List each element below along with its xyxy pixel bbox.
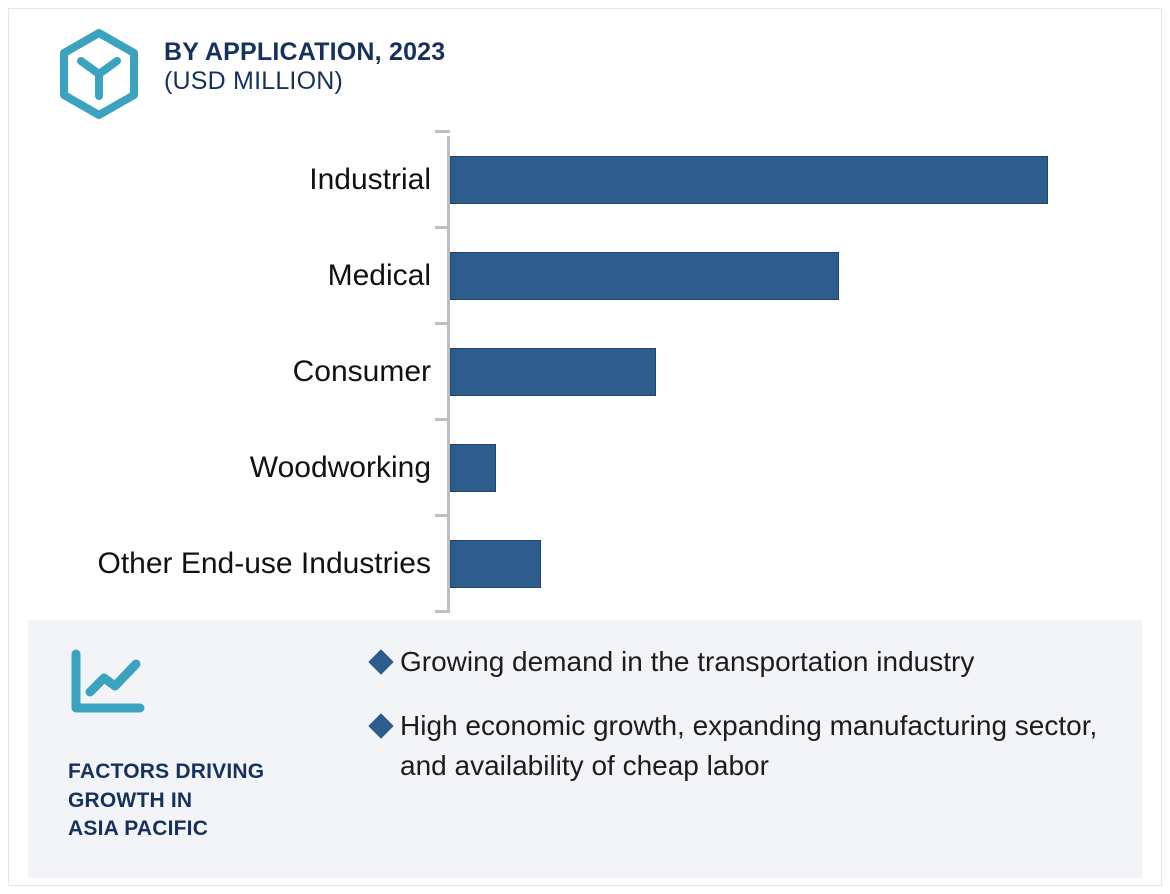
category-label-medical: Medical xyxy=(25,261,445,291)
bullet-text: High economic growth, expanding manufact… xyxy=(400,706,1122,786)
chart-row: Medical xyxy=(14,228,1154,324)
axis-tick xyxy=(435,514,450,517)
bar-other-end-use-industries xyxy=(450,540,541,588)
chart-infographic: BY APPLICATION, 2023 (USD MILLION) Indus… xyxy=(0,0,1170,894)
hexagon-y-logo-icon xyxy=(56,28,142,120)
factors-bullet-list: Growing demand in the transportation ind… xyxy=(372,642,1122,809)
axis-tick xyxy=(435,226,450,229)
caption-line-2: GROWTH IN xyxy=(68,787,368,816)
list-item: Growing demand in the transportation ind… xyxy=(372,642,1122,682)
bar-medical xyxy=(450,252,839,300)
caption-line-1: FACTORS DRIVING xyxy=(68,758,368,787)
caption-line-3: ASIA PACIFIC xyxy=(68,815,368,844)
axis-tick xyxy=(435,418,450,421)
category-label-consumer: Consumer xyxy=(25,357,445,387)
chart-rows: IndustrialMedicalConsumerWoodworkingOthe… xyxy=(14,132,1154,614)
chart-row: Other End-use Industries xyxy=(14,516,1154,612)
bar-chart: IndustrialMedicalConsumerWoodworkingOthe… xyxy=(14,132,1154,614)
page-subtitle: (USD MILLION) xyxy=(164,67,445,97)
diamond-bullet-icon xyxy=(368,713,393,738)
bar-consumer xyxy=(450,348,656,396)
line-chart-icon xyxy=(68,648,146,716)
diamond-bullet-icon xyxy=(368,649,393,674)
page-title: BY APPLICATION, 2023 xyxy=(164,38,445,67)
category-label-woodworking: Woodworking xyxy=(25,453,445,483)
factors-panel-left: FACTORS DRIVING GROWTH IN ASIA PACIFIC xyxy=(68,648,368,844)
axis-tick xyxy=(435,322,450,325)
axis-tick xyxy=(435,130,450,133)
chart-row: Industrial xyxy=(14,132,1154,228)
chart-row: Woodworking xyxy=(14,420,1154,516)
bar-industrial xyxy=(450,156,1048,204)
header-text: BY APPLICATION, 2023 (USD MILLION) xyxy=(164,28,445,96)
factors-panel: FACTORS DRIVING GROWTH IN ASIA PACIFIC G… xyxy=(28,620,1142,878)
header: BY APPLICATION, 2023 (USD MILLION) xyxy=(56,28,445,120)
bar-woodworking xyxy=(450,444,496,492)
axis-tick xyxy=(435,610,450,613)
category-label-other-end-use-industries: Other End-use Industries xyxy=(25,549,445,579)
bullet-text: Growing demand in the transportation ind… xyxy=(400,642,974,682)
list-item: High economic growth, expanding manufact… xyxy=(372,706,1122,786)
factors-panel-caption: FACTORS DRIVING GROWTH IN ASIA PACIFIC xyxy=(68,758,368,844)
category-label-industrial: Industrial xyxy=(25,165,445,195)
chart-row: Consumer xyxy=(14,324,1154,420)
